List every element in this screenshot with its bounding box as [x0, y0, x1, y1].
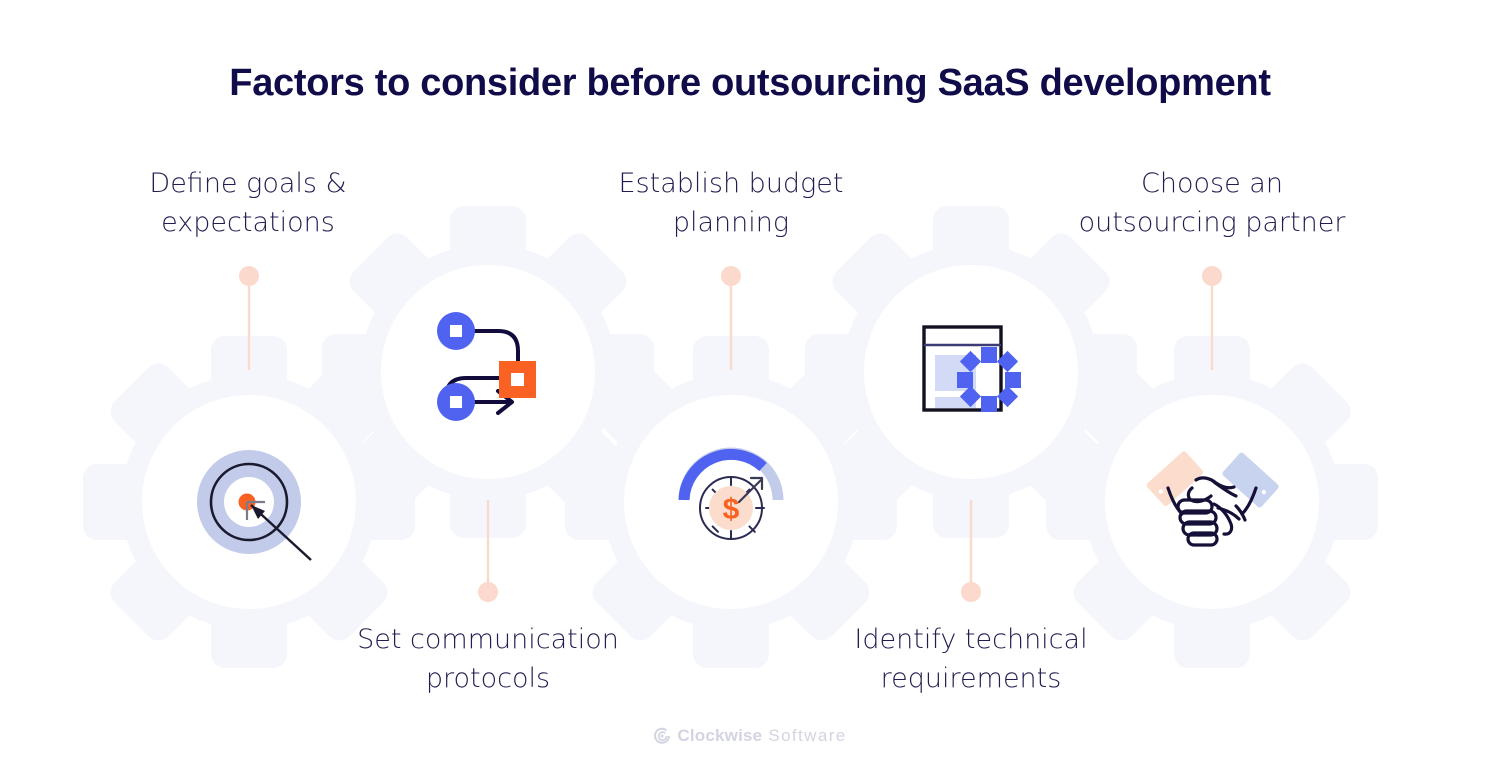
- connector-dot-define-goals: [239, 266, 259, 286]
- step-label-identify-technical: Identify technical requirements: [821, 620, 1121, 698]
- step-label-establish-budget: Establish budget planning: [581, 164, 881, 242]
- gears-and-connectors-layer: $: [0, 0, 1500, 776]
- infographic-canvas: Factors to consider before outsourcing S…: [0, 0, 1500, 776]
- clockwise-spiral-icon: [653, 727, 671, 745]
- connector-dot-set-communication: [478, 582, 498, 602]
- step-label-choose-partner: Choose an outsourcing partner: [1052, 164, 1372, 242]
- footer-brand-suffix: Software: [768, 726, 846, 746]
- step-label-define-goals: Define goals & expectations: [98, 164, 398, 242]
- footer-brand-name: Clockwise: [677, 726, 762, 746]
- connector-dot-choose-partner: [1202, 266, 1222, 286]
- connector-dot-identify-technical: [961, 582, 981, 602]
- step-label-set-communication: Set communication protocols: [338, 620, 638, 698]
- footer-logo: Clockwise Software: [0, 726, 1500, 746]
- budget-currency-symbol: $: [723, 493, 740, 526]
- connector-dot-establish-budget: [721, 266, 741, 286]
